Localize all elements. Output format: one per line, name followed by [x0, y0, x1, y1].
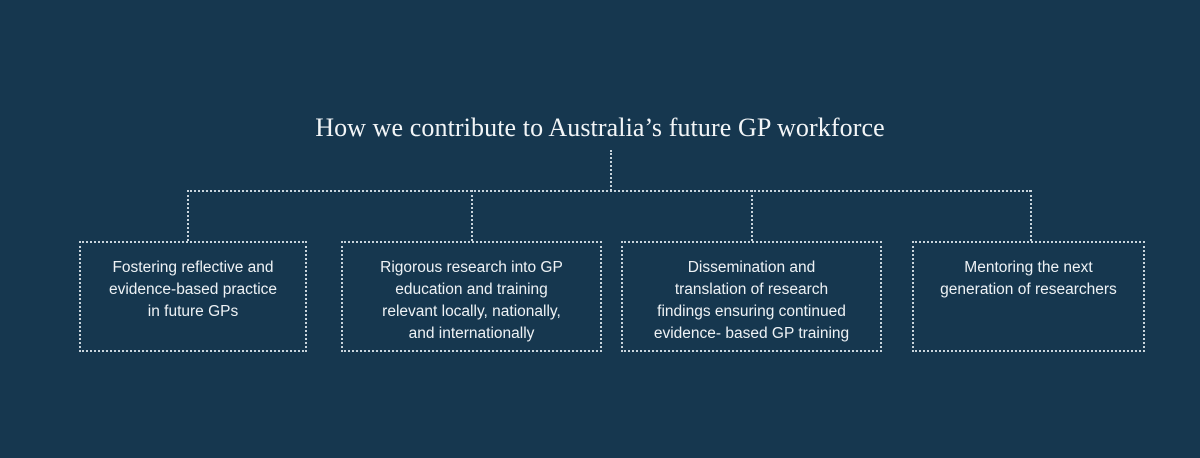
connector-horizontal-bus [187, 190, 1031, 192]
connector-drop-node-3 [751, 190, 753, 241]
node-text-line: Rigorous research into GP [353, 257, 590, 279]
node-text-line: Mentoring the next [924, 257, 1133, 279]
node-box-rigorous-research: Rigorous research into GP education and … [341, 241, 602, 352]
node-text-line: translation of research [633, 279, 870, 301]
connector-drop-node-1 [187, 190, 189, 241]
connector-stem-vertical [610, 150, 612, 191]
node-box-fostering-reflective-practice: Fostering reflective and evidence-based … [79, 241, 307, 352]
node-text-line: relevant locally, nationally, [353, 301, 590, 323]
node-text-line: Fostering reflective and [91, 257, 295, 279]
node-box-dissemination-translation: Dissemination and translation of researc… [621, 241, 882, 352]
node-text-line: Dissemination and [633, 257, 870, 279]
node-text-line: and internationally [353, 323, 590, 345]
connector-drop-node-2 [471, 190, 473, 241]
node-text-line: evidence-based practice [91, 279, 295, 301]
diagram-title: How we contribute to Australia’s future … [0, 112, 1200, 144]
node-text-line: education and training [353, 279, 590, 301]
node-text-line: generation of researchers [924, 279, 1133, 301]
node-text-line: evidence- based GP training [633, 323, 870, 345]
connector-lines [0, 0, 1200, 458]
node-text-line: findings ensuring continued [633, 301, 870, 323]
node-box-mentoring-next-generation: Mentoring the next generation of researc… [912, 241, 1145, 352]
org-chart-diagram: How we contribute to Australia’s future … [0, 0, 1200, 458]
node-text-line: in future GPs [91, 301, 295, 323]
connector-drop-node-4 [1030, 190, 1032, 241]
